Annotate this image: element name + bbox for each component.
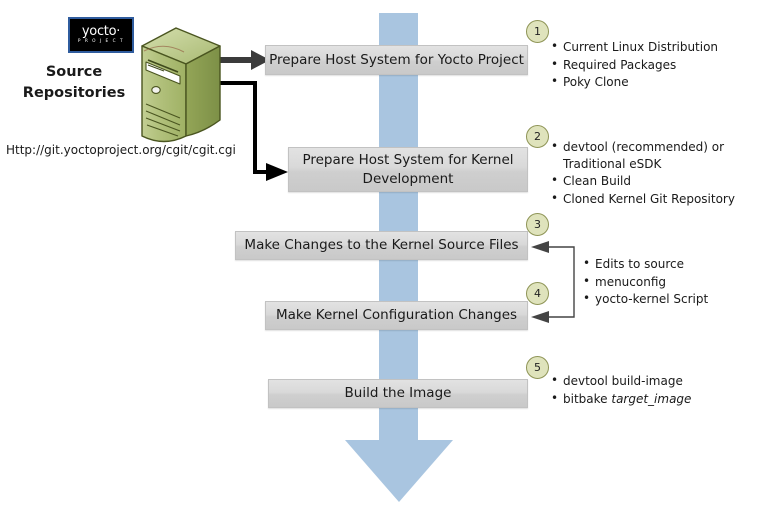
list-item: Clean Build xyxy=(551,173,751,190)
source-repositories-label: Source Repositories xyxy=(14,62,134,104)
step-number-3: 3 xyxy=(526,213,549,236)
step-box-prepare-host-kernel[interactable]: Prepare Host System for Kernel Developme… xyxy=(288,147,528,192)
step-number-1: 1 xyxy=(526,20,549,43)
list-item-emphasis: target_image xyxy=(611,392,691,406)
list-item: devtool (recommended) or Traditional eSD… xyxy=(551,139,751,172)
step-box-make-kernel-config-changes[interactable]: Make Kernel Configuration Changes xyxy=(265,301,528,330)
diagram-canvas: yocto· P R O J E C T Source Repositories… xyxy=(0,0,769,517)
step-box-prepare-host-yocto[interactable]: Prepare Host System for Yocto Project xyxy=(265,45,528,75)
list-item: Cloned Kernel Git Repository xyxy=(551,191,751,208)
list-item: yocto-kernel Script xyxy=(583,291,763,308)
source-repository-url: Http://git.yoctoproject.org/cgit/cgit.cg… xyxy=(6,143,236,157)
step1-bullet-list: Current Linux Distribution Required Pack… xyxy=(551,39,766,92)
step-number-5: 5 xyxy=(526,356,549,379)
logo-dot: · xyxy=(116,24,120,39)
list-item: Required Packages xyxy=(551,57,766,74)
logo-wordmark: yocto· xyxy=(82,25,120,38)
step-box-build-image[interactable]: Build the Image xyxy=(268,379,528,408)
list-item: devtool build-image xyxy=(551,373,761,390)
list-item: Edits to source xyxy=(583,256,763,273)
logo-word-text: yocto xyxy=(82,24,116,39)
source-label-line2: Repositories xyxy=(14,83,134,104)
yocto-project-logo: yocto· P R O J E C T xyxy=(68,17,134,53)
connector-server-to-step1 xyxy=(219,50,270,70)
step5-bullet-list: devtool build-image bitbake target_image xyxy=(551,373,761,408)
logo-subtext: P R O J E C T xyxy=(78,40,124,44)
source-label-line1: Source xyxy=(14,62,134,83)
connector-server-to-step2 xyxy=(219,83,288,181)
step-box-make-kernel-source-changes[interactable]: Make Changes to the Kernel Source Files xyxy=(235,231,528,260)
step3-step4-bullet-list: Edits to source menuconfig yocto-kernel … xyxy=(583,256,763,309)
list-item: bitbake target_image xyxy=(551,391,761,408)
list-item: Current Linux Distribution xyxy=(551,39,766,56)
step-number-4: 4 xyxy=(526,282,549,305)
list-item: Poky Clone xyxy=(551,74,766,91)
step-number-2: 2 xyxy=(526,125,549,148)
list-item: menuconfig xyxy=(583,274,763,291)
server-tower-icon xyxy=(134,24,222,144)
list-item-text: devtool build-image xyxy=(563,374,683,388)
step2-bullet-list: devtool (recommended) or Traditional eSD… xyxy=(551,139,751,208)
list-item-text: bitbake xyxy=(563,392,611,406)
